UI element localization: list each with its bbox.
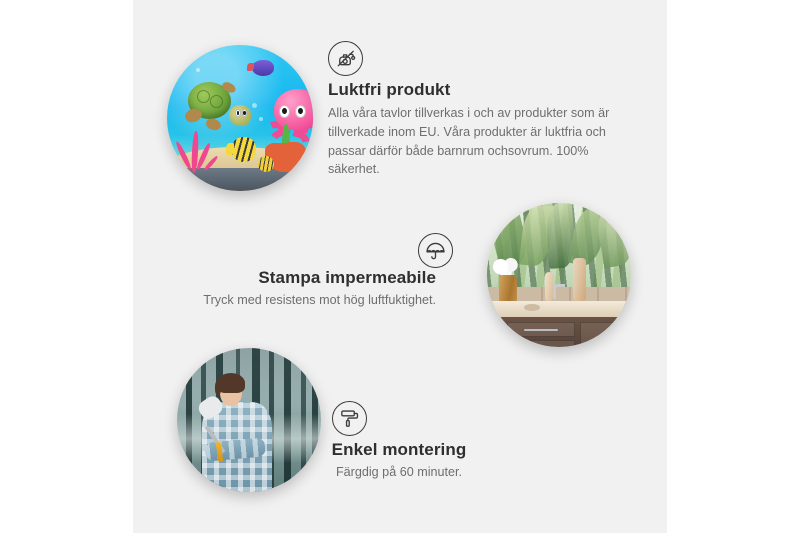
octopus-head xyxy=(274,89,313,131)
bubble-icon xyxy=(252,103,257,108)
content-panel: Luktfri produkt Alla våra tavlor tillver… xyxy=(133,0,667,533)
underwater-scene xyxy=(167,45,313,191)
countertop xyxy=(487,301,631,318)
faucet-icon xyxy=(553,284,565,300)
striped-fish-icon xyxy=(231,137,256,162)
tall-bottle xyxy=(573,258,586,301)
purple-fish-icon xyxy=(252,60,274,76)
wooden-vanity xyxy=(499,317,631,347)
small-fish-icon xyxy=(258,156,274,172)
no-fragrance-icon xyxy=(328,41,363,76)
vanity-drawer xyxy=(507,340,575,347)
turtle-head xyxy=(229,105,250,126)
feature-body: Alla våra tavlor tillverkas i och av pro… xyxy=(328,104,628,179)
octopus-eye xyxy=(279,105,290,119)
feature-title: Stampa impermeabile xyxy=(178,268,436,288)
bathroom-scene xyxy=(487,203,631,347)
octopus-eye xyxy=(295,105,306,119)
starfish-icon xyxy=(269,143,301,172)
underwater-cartoon-circle-photo xyxy=(167,45,313,191)
bathroom-leaf-wallpaper-circle-photo xyxy=(487,203,631,347)
coral-icon xyxy=(174,127,218,174)
woman-hair xyxy=(217,373,245,393)
paint-roller-icon xyxy=(332,401,367,436)
drawer-handle xyxy=(524,329,558,331)
feature-text-odorless: Luktfri produkt Alla våra tavlor tillver… xyxy=(328,80,628,179)
turtle-eye xyxy=(242,109,248,117)
woman-figure xyxy=(197,374,275,492)
bubble-icon xyxy=(196,68,200,72)
feature-text-waterproof: Stampa impermeabile Tryck med resistens … xyxy=(178,268,436,310)
sea-turtle-icon xyxy=(185,80,249,133)
infographic-page: Luktfri produkt Alla våra tavlor tillver… xyxy=(0,0,800,533)
feature-body: Färgdig på 60 minuter. xyxy=(289,463,509,482)
umbrella-icon xyxy=(418,233,453,268)
feature-title: Luktfri produkt xyxy=(328,80,628,100)
feature-body: Tryck med resistens mot hög luftfuktighe… xyxy=(178,291,436,310)
turtle-eye xyxy=(235,109,241,117)
feature-text-easy-install: Enkel montering Färgdig på 60 minuter. xyxy=(289,440,509,482)
turtle-fin xyxy=(183,107,203,125)
soap-dispenser xyxy=(545,272,554,301)
door-handle xyxy=(620,327,624,347)
feature-title: Enkel montering xyxy=(289,440,509,460)
